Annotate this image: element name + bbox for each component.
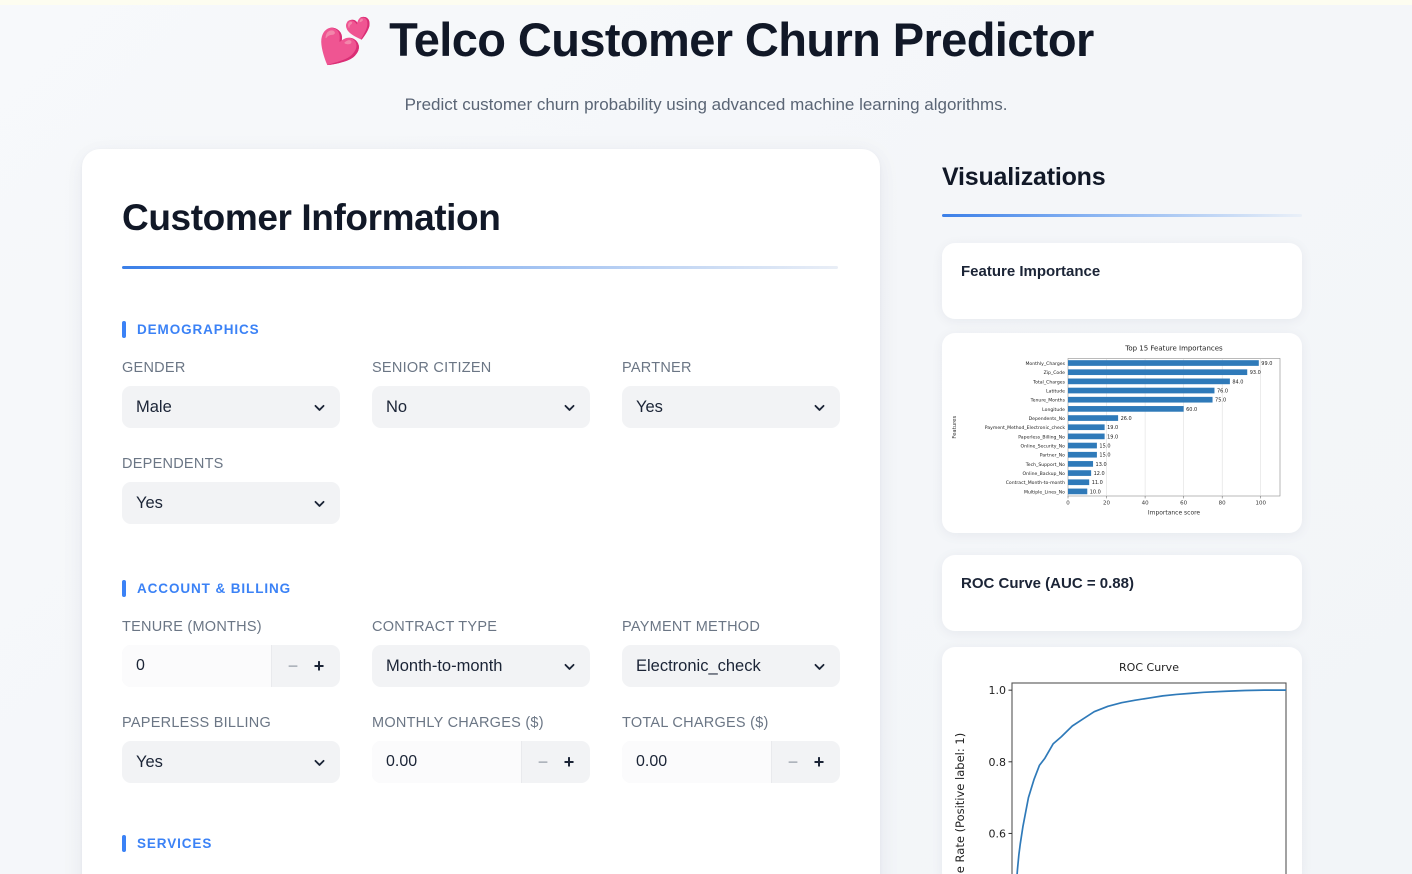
- stepper-buttons: − +: [272, 645, 340, 687]
- svg-text:15.0: 15.0: [1099, 453, 1110, 459]
- section-demographics: DEMOGRAPHICS: [122, 321, 838, 338]
- svg-text:0: 0: [1066, 501, 1070, 507]
- paperless-billing-value: Yes: [136, 753, 313, 772]
- svg-text:Features: Features: [952, 416, 958, 439]
- dependents-value: Yes: [136, 494, 313, 513]
- field-label: SENIOR CITIZEN: [372, 360, 590, 376]
- tenure-increment-button[interactable]: +: [308, 645, 330, 687]
- svg-text:84.0: 84.0: [1232, 379, 1243, 385]
- field-payment-method: PAYMENT METHOD Electronic_check: [622, 619, 840, 687]
- section-label: ACCOUNT & BILLING: [137, 581, 291, 596]
- visualizations-divider: [942, 214, 1302, 217]
- svg-text:20: 20: [1103, 501, 1111, 507]
- svg-text:1.0: 1.0: [989, 684, 1007, 697]
- top-accent-strip: [0, 0, 1412, 5]
- total-charges-increment-button[interactable]: +: [808, 741, 830, 783]
- svg-text:Longitude: Longitude: [1042, 407, 1065, 413]
- app-page: 💕 Telco Customer Churn Predictor Predict…: [0, 0, 1412, 874]
- field-label: PAPERLESS BILLING: [122, 715, 340, 731]
- chevron-down-icon: [313, 497, 326, 510]
- tenure-input[interactable]: 0: [122, 645, 272, 687]
- visualizations-column: Visualizations Feature Importance Top 15…: [942, 149, 1302, 874]
- field-label: TENURE (MONTHS): [122, 619, 340, 635]
- total-charges-decrement-button[interactable]: −: [782, 741, 804, 783]
- svg-text:80: 80: [1219, 501, 1227, 507]
- svg-text:Online_Security_No: Online_Security_No: [1021, 444, 1066, 450]
- svg-text:10.0: 10.0: [1090, 489, 1101, 495]
- svg-text:0.6: 0.6: [989, 827, 1007, 840]
- svg-text:12.0: 12.0: [1094, 471, 1105, 477]
- svg-text:Zip_Code: Zip_Code: [1044, 370, 1066, 376]
- feature-importance-label: Feature Importance: [961, 263, 1100, 280]
- demographics-grid-row2: DEPENDENTS Yes: [122, 456, 838, 528]
- contract-type-select[interactable]: Month-to-month: [372, 645, 590, 687]
- section-label: DEMOGRAPHICS: [137, 322, 260, 337]
- main-layout: Customer Information DEMOGRAPHICS GENDER…: [0, 149, 1412, 874]
- field-contract-type: CONTRACT TYPE Month-to-month: [372, 619, 590, 687]
- chevron-down-icon: [563, 660, 576, 673]
- senior-citizen-select[interactable]: No: [372, 386, 590, 428]
- svg-text:75.0: 75.0: [1215, 398, 1226, 404]
- svg-text:60.0: 60.0: [1186, 407, 1197, 413]
- visualizations-title: Visualizations: [942, 163, 1302, 192]
- svg-text:Total_Charges: Total_Charges: [1032, 379, 1066, 385]
- section-label: SERVICES: [137, 836, 212, 851]
- paperless-billing-select[interactable]: Yes: [122, 741, 340, 783]
- svg-text:15.0: 15.0: [1099, 444, 1110, 450]
- field-total-charges: TOTAL CHARGES ($) 0.00 − +: [622, 715, 840, 783]
- spacer: [122, 691, 838, 715]
- payment-method-value: Electronic_check: [636, 657, 813, 676]
- app-header: 💕 Telco Customer Churn Predictor Predict…: [0, 0, 1412, 115]
- tenure-decrement-button[interactable]: −: [282, 645, 304, 687]
- field-dependents: DEPENDENTS Yes: [122, 456, 340, 524]
- svg-text:19.0: 19.0: [1107, 434, 1118, 440]
- feature-importance-chart-card: Top 15 Feature Importances020406080100Mo…: [942, 333, 1302, 533]
- feature-importance-card[interactable]: Feature Importance: [942, 243, 1302, 319]
- section-accent-bar: [122, 835, 126, 852]
- svg-text:26.0: 26.0: [1121, 416, 1132, 422]
- svg-text:Importance score: Importance score: [1148, 510, 1201, 516]
- dependents-select[interactable]: Yes: [122, 482, 340, 524]
- svg-text:Multiple_Lines_No: Multiple_Lines_No: [1024, 489, 1065, 495]
- chevron-down-icon: [313, 756, 326, 769]
- stepper-buttons: − +: [772, 741, 840, 783]
- svg-text:76.0: 76.0: [1217, 389, 1228, 395]
- monthly-charges-increment-button[interactable]: +: [558, 741, 580, 783]
- svg-text:11.0: 11.0: [1092, 480, 1103, 486]
- partner-select[interactable]: Yes: [622, 386, 840, 428]
- field-label: TOTAL CHARGES ($): [622, 715, 840, 731]
- total-charges-stepper[interactable]: 0.00 − +: [622, 741, 840, 783]
- svg-text:60: 60: [1180, 501, 1188, 507]
- svg-text:Latitude: Latitude: [1046, 389, 1065, 395]
- svg-text:100: 100: [1255, 501, 1266, 507]
- svg-text:Dependents_No: Dependents_No: [1029, 416, 1066, 422]
- svg-text:Partner_No: Partner_No: [1040, 453, 1065, 459]
- stepper-buttons: − +: [522, 741, 590, 783]
- svg-text:93.0: 93.0: [1250, 370, 1261, 376]
- field-gender: GENDER Male: [122, 360, 340, 428]
- field-label: PARTNER: [622, 360, 840, 376]
- field-label: PAYMENT METHOD: [622, 619, 840, 635]
- senior-citizen-value: No: [386, 398, 563, 417]
- roc-curve-card[interactable]: ROC Curve (AUC = 0.88): [942, 555, 1302, 631]
- section-services: SERVICES: [122, 835, 838, 852]
- payment-method-select[interactable]: Electronic_check: [622, 645, 840, 687]
- tenure-stepper[interactable]: 0 − +: [122, 645, 340, 687]
- section-account-billing: ACCOUNT & BILLING: [122, 580, 838, 597]
- field-label: GENDER: [122, 360, 340, 376]
- billing-grid-row2: PAPERLESS BILLING Yes MONTHLY CHARGES ($…: [122, 715, 838, 787]
- gender-value: Male: [136, 398, 313, 417]
- monthly-charges-input[interactable]: 0.00: [372, 741, 522, 783]
- customer-information-card: Customer Information DEMOGRAPHICS GENDER…: [82, 149, 880, 874]
- field-label: DEPENDENTS: [122, 456, 340, 472]
- roc-curve-chart: ROC Curve0.40.60.81.0e Rate (Positive la…: [950, 655, 1294, 874]
- svg-text:Online_Backup_No: Online_Backup_No: [1023, 471, 1066, 477]
- heart-icon: 💕: [318, 20, 373, 64]
- field-label: CONTRACT TYPE: [372, 619, 590, 635]
- gender-select[interactable]: Male: [122, 386, 340, 428]
- field-paperless-billing: PAPERLESS BILLING Yes: [122, 715, 340, 783]
- card-title: Customer Information: [122, 197, 838, 239]
- monthly-charges-stepper[interactable]: 0.00 − +: [372, 741, 590, 783]
- contract-type-value: Month-to-month: [386, 657, 563, 676]
- svg-text:19.0: 19.0: [1107, 425, 1118, 431]
- svg-text:Tech_Support_No: Tech_Support_No: [1025, 462, 1065, 468]
- partner-value: Yes: [636, 398, 813, 417]
- page-title: Telco Customer Churn Predictor: [389, 12, 1094, 67]
- chevron-down-icon: [813, 401, 826, 414]
- svg-text:e Rate (Positive label: 1): e Rate (Positive label: 1): [953, 733, 967, 873]
- chevron-down-icon: [313, 401, 326, 414]
- chevron-down-icon: [813, 660, 826, 673]
- svg-text:99.0: 99.0: [1261, 361, 1272, 367]
- svg-text:Tenure_Months: Tenure_Months: [1030, 398, 1066, 404]
- billing-grid: TENURE (MONTHS) 0 − + CONTRACT TYPE Mont…: [122, 619, 838, 691]
- chevron-down-icon: [563, 401, 576, 414]
- title-row: 💕 Telco Customer Churn Predictor: [0, 12, 1412, 67]
- spacer: [122, 432, 838, 456]
- svg-text:0.8: 0.8: [989, 756, 1007, 769]
- monthly-charges-decrement-button[interactable]: −: [532, 741, 554, 783]
- svg-text:Contract_Month-to-month: Contract_Month-to-month: [1006, 480, 1065, 486]
- field-label: MONTHLY CHARGES ($): [372, 715, 590, 731]
- demographics-grid: GENDER Male SENIOR CITIZEN No PARTNER: [122, 360, 838, 432]
- field-senior-citizen: SENIOR CITIZEN No: [372, 360, 590, 428]
- svg-text:40: 40: [1142, 501, 1150, 507]
- total-charges-input[interactable]: 0.00: [622, 741, 772, 783]
- field-monthly-charges: MONTHLY CHARGES ($) 0.00 − +: [372, 715, 590, 783]
- field-partner: PARTNER Yes: [622, 360, 840, 428]
- section-accent-bar: [122, 580, 126, 597]
- roc-curve-label: ROC Curve (AUC = 0.88): [961, 575, 1134, 592]
- svg-text:Top 15 Feature Importances: Top 15 Feature Importances: [1124, 345, 1223, 353]
- feature-importance-chart: Top 15 Feature Importances020406080100Mo…: [950, 341, 1294, 527]
- page-subtitle: Predict customer churn probability using…: [0, 95, 1412, 115]
- section-accent-bar: [122, 321, 126, 338]
- svg-text:Payment_Method_Electronic_chec: Payment_Method_Electronic_check: [985, 425, 1066, 431]
- svg-text:ROC Curve: ROC Curve: [1119, 661, 1179, 674]
- roc-chart-card: ROC Curve0.40.60.81.0e Rate (Positive la…: [942, 647, 1302, 874]
- title-divider: [122, 266, 838, 269]
- field-tenure: TENURE (MONTHS) 0 − +: [122, 619, 340, 687]
- svg-text:Monthly_Charges: Monthly_Charges: [1025, 361, 1065, 367]
- svg-text:13.0: 13.0: [1096, 462, 1107, 468]
- svg-text:Paperless_Billing_No: Paperless_Billing_No: [1018, 434, 1065, 440]
